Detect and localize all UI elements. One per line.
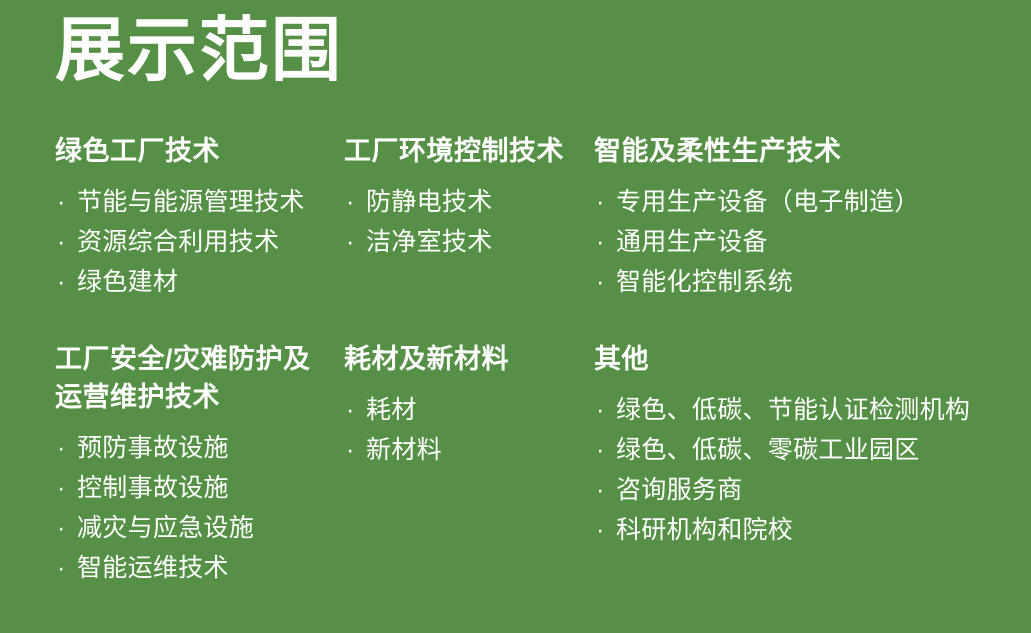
list-item: · 绿色、低碳、节能认证检测机构 (594, 390, 1031, 430)
section-heading: 绿色工厂技术 (55, 132, 322, 170)
bullet-dot-icon: · (596, 222, 612, 262)
list-item: · 新材料 (344, 430, 584, 470)
list-item-label: 智能运维技术 (77, 554, 229, 582)
list-item: · 洁净室技术 (344, 222, 584, 262)
bullet-dot-icon: · (57, 548, 73, 588)
bullet-dot-icon: · (596, 182, 612, 222)
list-item-label: 科研机构和院校 (616, 516, 793, 544)
list-item: · 通用生产设备 (594, 222, 1031, 262)
list-item: · 控制事故设施 (55, 468, 322, 508)
bullet-dot-icon: · (346, 182, 362, 222)
bullet-dot-icon: · (596, 430, 612, 470)
bullet-dot-icon: · (346, 390, 362, 430)
exhibition-scope-poster: 展示范围 绿色工厂技术 · 节能与能源管理技术 · 资源综合利用技术 · 绿 (0, 0, 1031, 633)
list-item: · 绿色、低碳、零碳工业园区 (594, 430, 1031, 470)
list-item-label: 智能化控制系统 (616, 268, 793, 296)
bullet-dot-icon: · (57, 428, 73, 468)
bullet-dot-icon: · (57, 182, 73, 222)
list-item-label: 咨询服务商 (616, 476, 743, 504)
bullet-dot-icon: · (57, 508, 73, 548)
section-green-factory-technology: 绿色工厂技术 · 节能与能源管理技术 · 资源综合利用技术 · 绿色建材 (0, 132, 322, 302)
list-item-label: 减灾与应急设施 (77, 514, 254, 542)
list-item: · 智能化控制系统 (594, 262, 1031, 302)
section-heading: 其他 (594, 340, 1031, 378)
section-row-top: 绿色工厂技术 · 节能与能源管理技术 · 资源综合利用技术 · 绿色建材 (0, 132, 1031, 340)
bullet-dot-icon: · (596, 262, 612, 302)
list-item: · 绿色建材 (55, 262, 322, 302)
section-list: · 节能与能源管理技术 · 资源综合利用技术 · 绿色建材 (55, 182, 322, 302)
section-list: · 绿色、低碳、节能认证检测机构 · 绿色、低碳、零碳工业园区 · 咨询服务商 … (594, 390, 1031, 550)
list-item-label: 绿色、低碳、零碳工业园区 (616, 436, 920, 464)
section-list: · 防静电技术 · 洁净室技术 (344, 182, 584, 262)
section-list: · 预防事故设施 · 控制事故设施 · 减灾与应急设施 · 智能运维技术 (55, 428, 322, 588)
list-item: · 耗材 (344, 390, 584, 430)
bullet-dot-icon: · (596, 470, 612, 510)
list-item-label: 资源综合利用技术 (77, 228, 279, 256)
list-item: · 节能与能源管理技术 (55, 182, 322, 222)
section-intelligent-flexible-production-technology: 智能及柔性生产技术 · 专用生产设备（电子制造） · 通用生产设备 · 智能化控… (584, 132, 1031, 302)
bullet-dot-icon: · (346, 222, 362, 262)
list-item-label: 专用生产设备（电子制造） (616, 188, 920, 216)
list-item: · 预防事故设施 (55, 428, 322, 468)
list-item: · 咨询服务商 (594, 470, 1031, 510)
section-heading: 智能及柔性生产技术 (594, 132, 1031, 170)
list-item: · 智能运维技术 (55, 548, 322, 588)
bullet-dot-icon: · (596, 390, 612, 430)
section-list: · 耗材 · 新材料 (344, 390, 584, 470)
section-row-bottom: 工厂安全/灾难防护及 运营维护技术 · 预防事故设施 · 控制事故设施 · 减灾… (0, 340, 1031, 620)
list-item-label: 洁净室技术 (366, 228, 493, 256)
list-item: · 防静电技术 (344, 182, 584, 222)
list-item-label: 节能与能源管理技术 (77, 188, 305, 216)
section-factory-safety-disaster-protection-operation-maintenance-technology: 工厂安全/灾难防护及 运营维护技术 · 预防事故设施 · 控制事故设施 · 减灾… (0, 340, 322, 588)
list-item-label: 控制事故设施 (77, 474, 229, 502)
list-item-label: 新材料 (366, 436, 442, 464)
list-item: · 专用生产设备（电子制造） (594, 182, 1031, 222)
list-item-label: 防静电技术 (366, 188, 493, 216)
list-item-label: 绿色、低碳、节能认证检测机构 (616, 396, 970, 424)
section-list: · 专用生产设备（电子制造） · 通用生产设备 · 智能化控制系统 (594, 182, 1031, 302)
list-item-label: 预防事故设施 (77, 434, 229, 462)
section-factory-environment-control-technology: 工厂环境控制技术 · 防静电技术 · 洁净室技术 (322, 132, 584, 262)
list-item: · 科研机构和院校 (594, 510, 1031, 550)
list-item: · 资源综合利用技术 (55, 222, 322, 262)
list-item-label: 通用生产设备 (616, 228, 768, 256)
list-item: · 减灾与应急设施 (55, 508, 322, 548)
bullet-dot-icon: · (346, 430, 362, 470)
page-title: 展示范围 (55, 12, 343, 89)
bullet-dot-icon: · (57, 222, 73, 262)
list-item-label: 耗材 (366, 396, 417, 424)
bullet-dot-icon: · (57, 468, 73, 508)
list-item-label: 绿色建材 (77, 268, 178, 296)
section-heading: 工厂安全/灾难防护及 运营维护技术 (55, 340, 322, 416)
sections-grid: 绿色工厂技术 · 节能与能源管理技术 · 资源综合利用技术 · 绿色建材 (0, 132, 1031, 620)
section-consumables-new-materials: 耗材及新材料 · 耗材 · 新材料 (322, 340, 584, 470)
bullet-dot-icon: · (596, 510, 612, 550)
section-heading: 工厂环境控制技术 (344, 132, 584, 170)
section-heading: 耗材及新材料 (344, 340, 584, 378)
bullet-dot-icon: · (57, 262, 73, 302)
section-others: 其他 · 绿色、低碳、节能认证检测机构 · 绿色、低碳、零碳工业园区 · 咨询服… (584, 340, 1031, 550)
